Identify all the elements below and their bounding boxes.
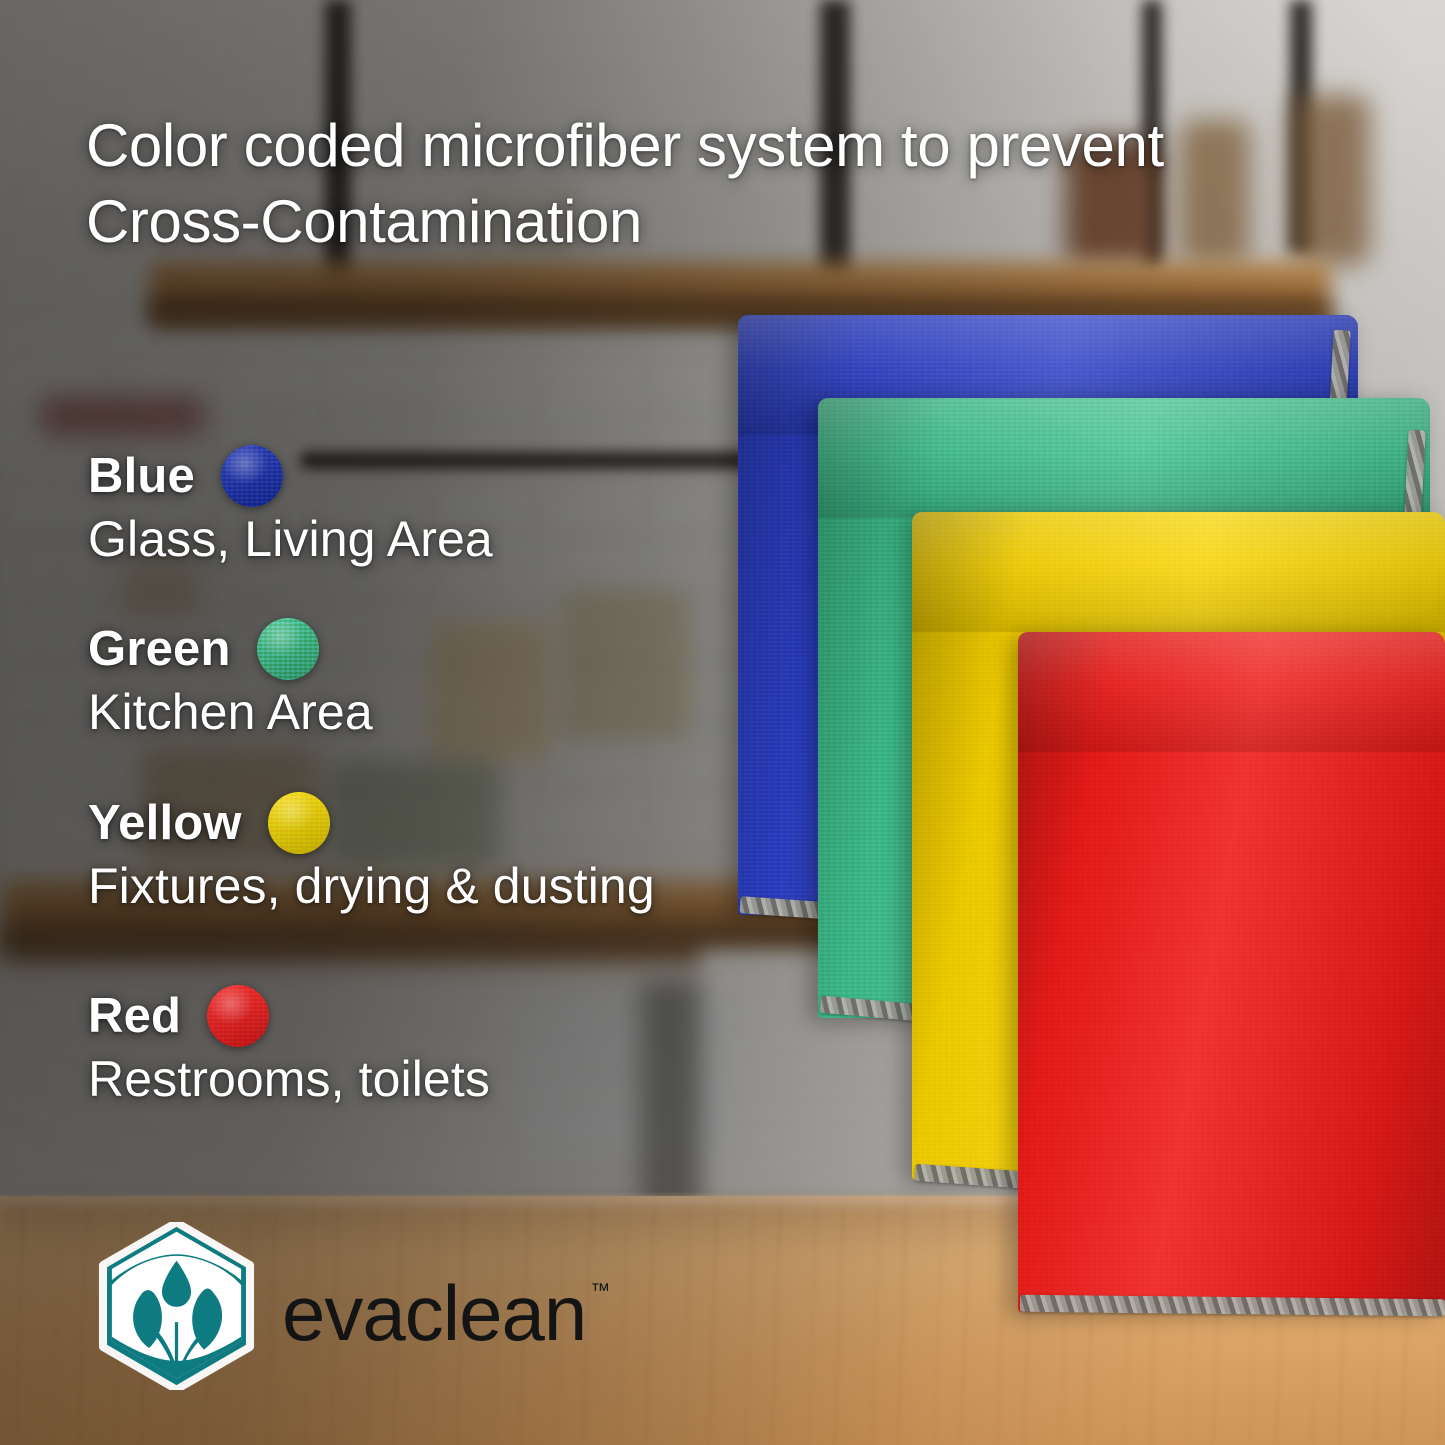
legend-description: Fixtures, drying & dusting — [88, 858, 655, 914]
legend-color-name: Blue — [88, 450, 195, 502]
yellow-swatch — [268, 792, 330, 854]
legend-item-yellow: Yellow Fixtures, drying & dusting — [88, 792, 655, 914]
evaclean-hexagon-leaf-droplet-logo — [95, 1222, 258, 1390]
legend-color-name: Green — [88, 623, 231, 675]
green-swatch — [257, 618, 319, 680]
legend-color-name: Red — [88, 990, 181, 1042]
brand-logo: evaclean™ — [95, 1222, 610, 1390]
legend-item-green: Green Kitchen Area — [88, 618, 373, 740]
red-swatch — [207, 985, 269, 1047]
product-infographic: Color coded microfiber system to prevent… — [0, 0, 1445, 1445]
legend-description: Restrooms, toilets — [88, 1051, 490, 1107]
legend-description: Kitchen Area — [88, 684, 373, 740]
legend-item-red: Red Restrooms, toilets — [88, 985, 490, 1107]
brand-wordmark: evaclean™ — [282, 1268, 610, 1352]
legend-color-name: Yellow — [88, 797, 242, 849]
headline: Color coded microfiber system to prevent… — [86, 108, 1386, 260]
blue-swatch — [221, 445, 283, 507]
legend-item-blue: Blue Glass, Living Area — [88, 445, 493, 567]
brand-wordmark-text: evaclean — [282, 1269, 586, 1357]
stem-center-icon — [175, 1322, 178, 1367]
legend-description: Glass, Living Area — [88, 511, 493, 567]
trademark-symbol: ™ — [590, 1280, 610, 1302]
